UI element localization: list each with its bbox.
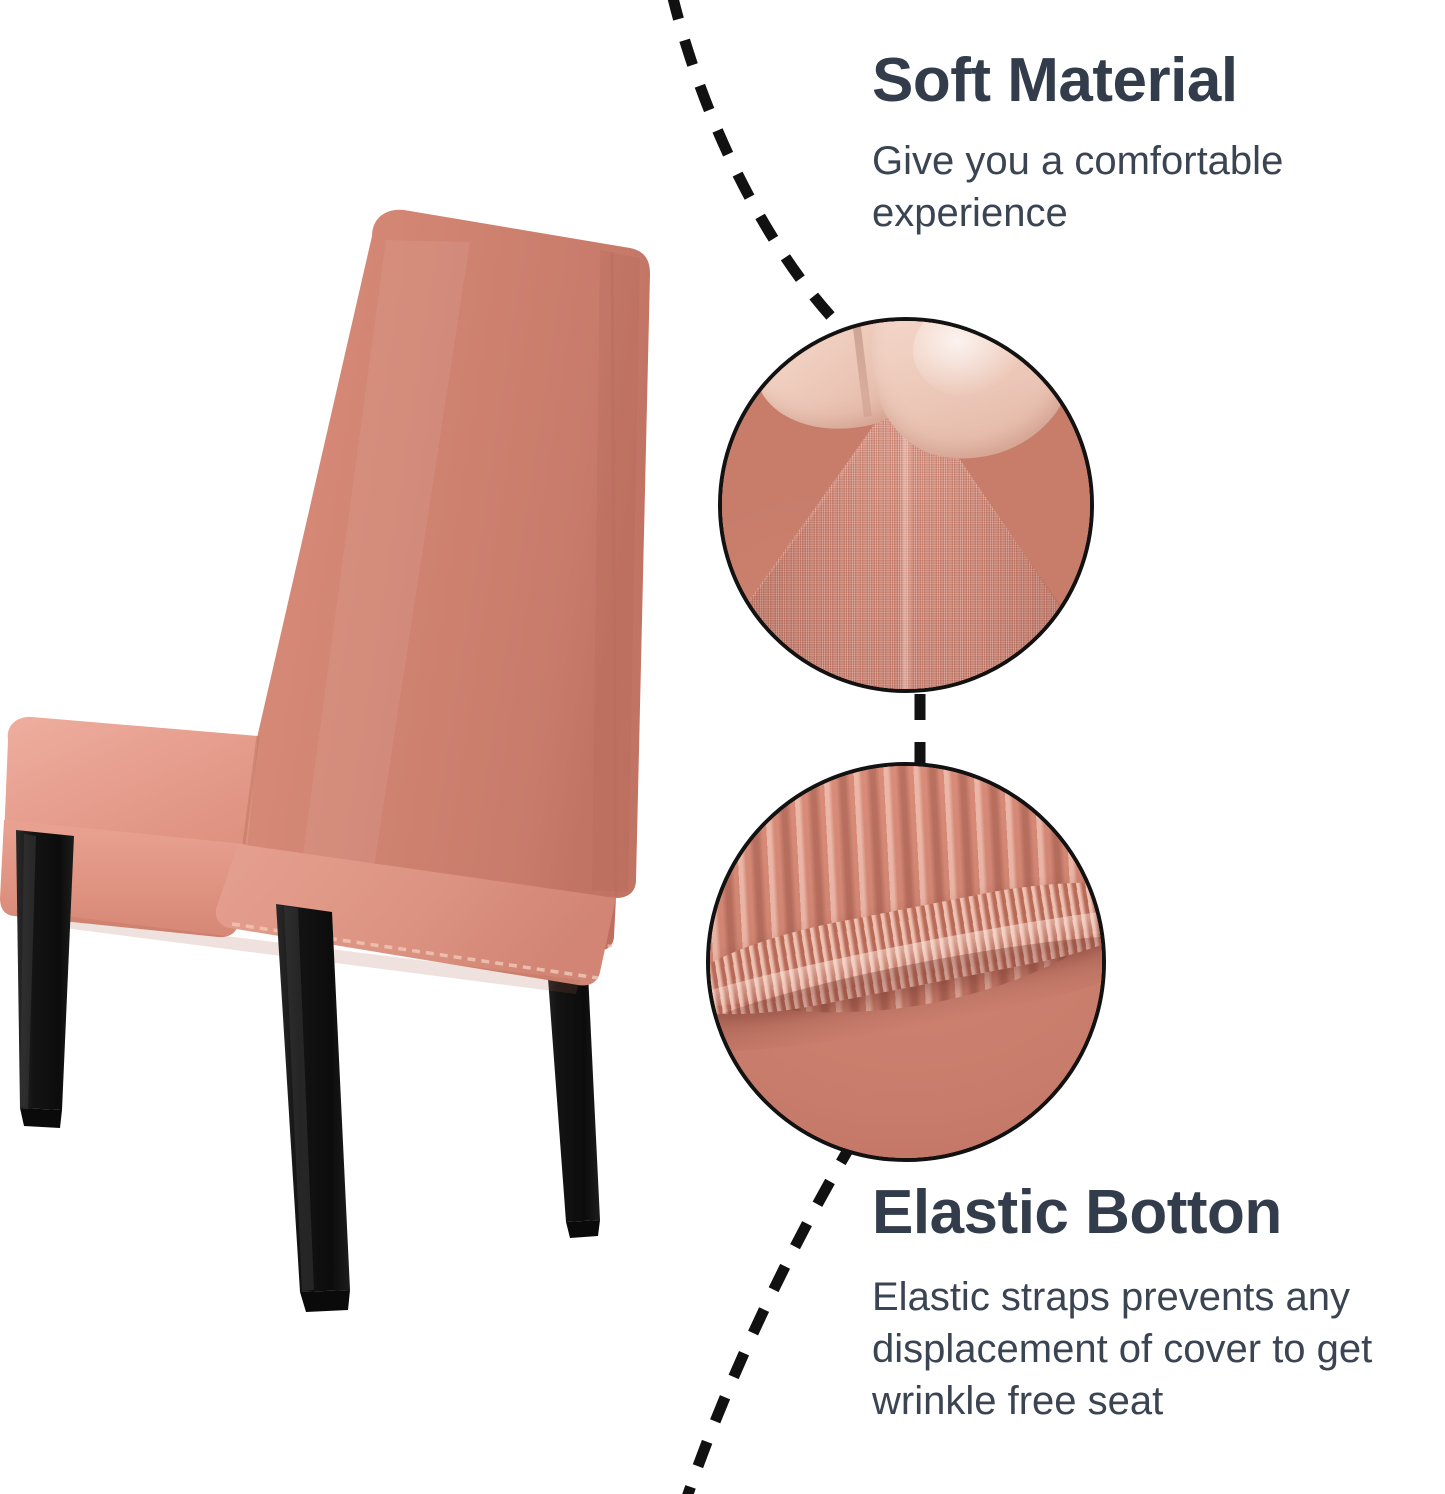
- soft-material-detail-circle: [718, 317, 1094, 693]
- leader-bottom-icon: [686, 1140, 854, 1494]
- product-infographic: Soft Material Give you a comfortable exp…: [0, 0, 1445, 1494]
- feature-title: Elastic Botton: [872, 1180, 1432, 1245]
- front-left-leg: [16, 830, 74, 1128]
- rear-stub-leg: [268, 892, 312, 1048]
- feature-body: Give you a comfortable experience: [872, 135, 1382, 239]
- feature-title: Soft Material: [872, 48, 1412, 113]
- chair-back: [229, 210, 650, 951]
- feature-soft-material: Soft Material Give you a comfortable exp…: [872, 48, 1412, 239]
- chair-illustration: [0, 180, 700, 1330]
- feature-body: Elastic straps prevents any displacement…: [872, 1271, 1412, 1427]
- feature-elastic-botton: Elastic Botton Elastic straps prevents a…: [872, 1180, 1432, 1427]
- elastic-botton-detail-circle: [706, 762, 1106, 1162]
